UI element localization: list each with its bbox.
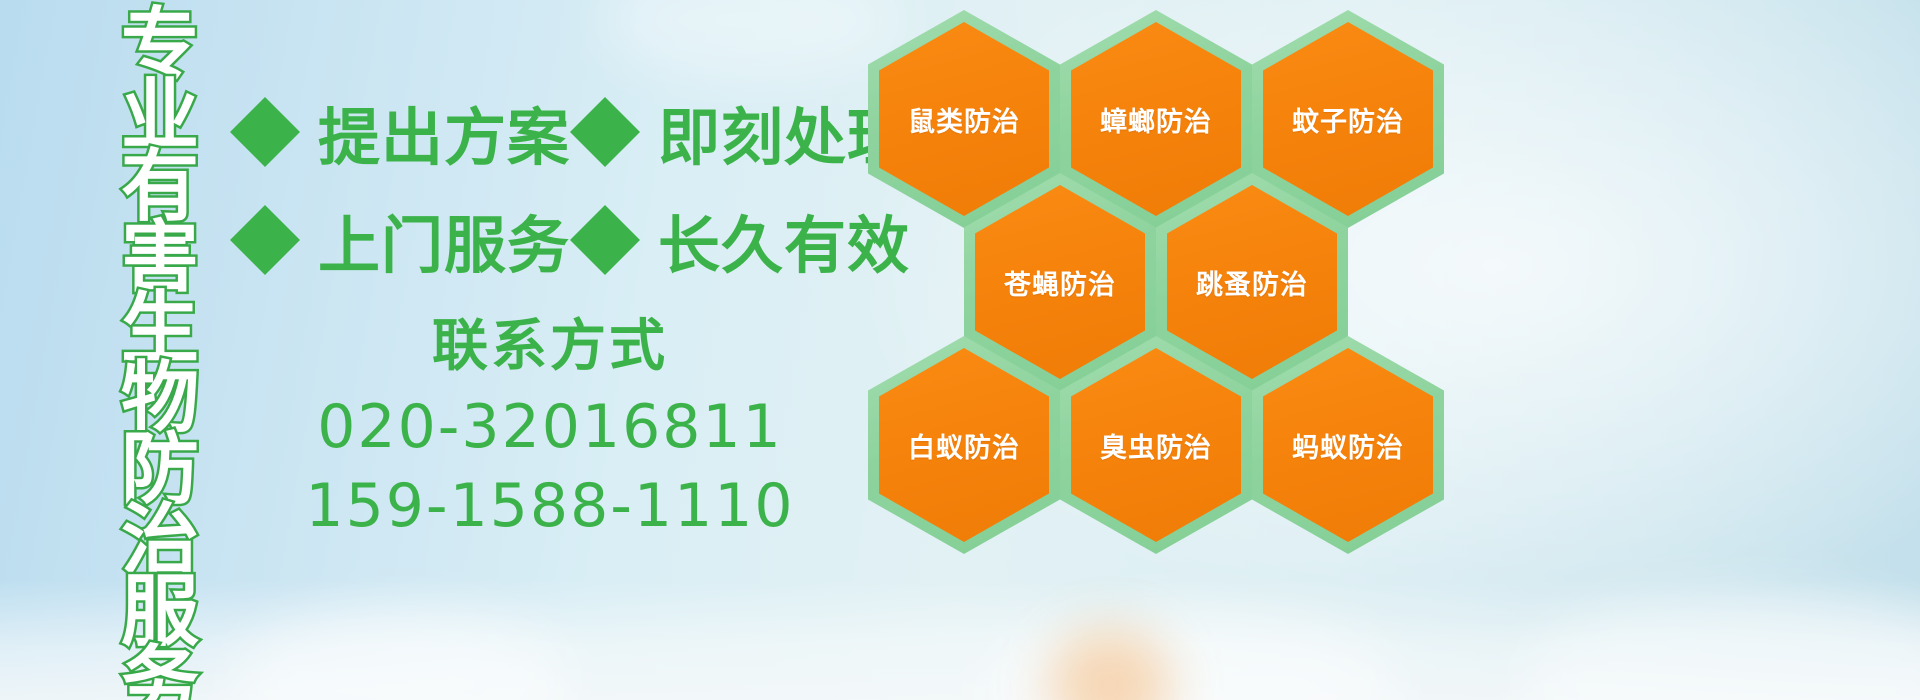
vertical-headline-char: 务 [121,646,199,700]
service-label: 鼠类防治 [908,100,1020,139]
background-haze-top [600,0,900,80]
diamond-icon [230,62,300,132]
feature-label: 上门服务 [318,195,570,285]
feature-item: 长久有效 [570,195,910,285]
contact-block: 联系方式 020-32016811 159-1588-1110 [290,312,810,546]
background-blob-right [1520,590,1920,700]
feature-item: 即刻处理 [570,87,910,177]
hex-inner: 鼠类防治 [879,22,1049,216]
service-label: 臭虫防治 [1100,426,1212,465]
hex-inner: 蚊子防治 [1263,22,1433,216]
diamond-icon [230,170,300,240]
vertical-headline: 专 业 有 害 生 物 防 治 服 务 [108,8,212,700]
feature-label: 提出方案 [318,87,570,177]
service-label: 白蚁防治 [908,426,1020,465]
hex-inner: 苍蝇防治 [975,185,1145,379]
service-label: 蚂蚁防治 [1292,426,1404,465]
phone-number-landline[interactable]: 020-32016811 [290,388,810,467]
phone-number-mobile[interactable]: 159-1588-1110 [290,467,810,546]
hex-inner: 跳蚤防治 [1167,185,1337,379]
feature-item: 上门服务 [230,195,570,285]
feature-row: 上门服务 长久有效 [230,186,870,294]
hex-inner: 白蚁防治 [879,348,1049,542]
service-label: 跳蚤防治 [1196,263,1308,302]
hex-inner: 臭虫防治 [1071,348,1241,542]
contact-title: 联系方式 [290,312,810,382]
background-blob-left [230,610,570,700]
feature-row: 提出方案 即刻处理 [230,78,870,186]
service-label: 蟑螂防治 [1100,100,1212,139]
pest-control-banner: 专 业 有 害 生 物 防 治 服 务 提出方案 即刻处理 上门服务 [0,0,1920,700]
diamond-icon [570,170,640,240]
feature-item: 提出方案 [230,87,570,177]
service-label: 蚊子防治 [1292,100,1404,139]
service-hexagon-grid: 鼠类防治 蟑螂防治 蚊子防治 苍蝇防治 跳蚤防治 白蚁防治 [862,4,1462,700]
hex-inner: 蟑螂防治 [1071,22,1241,216]
feature-list: 提出方案 即刻处理 上门服务 长久有效 [230,78,870,294]
hex-inner: 蚂蚁防治 [1263,348,1433,542]
service-label: 苍蝇防治 [1004,263,1116,302]
diamond-icon [570,62,640,132]
